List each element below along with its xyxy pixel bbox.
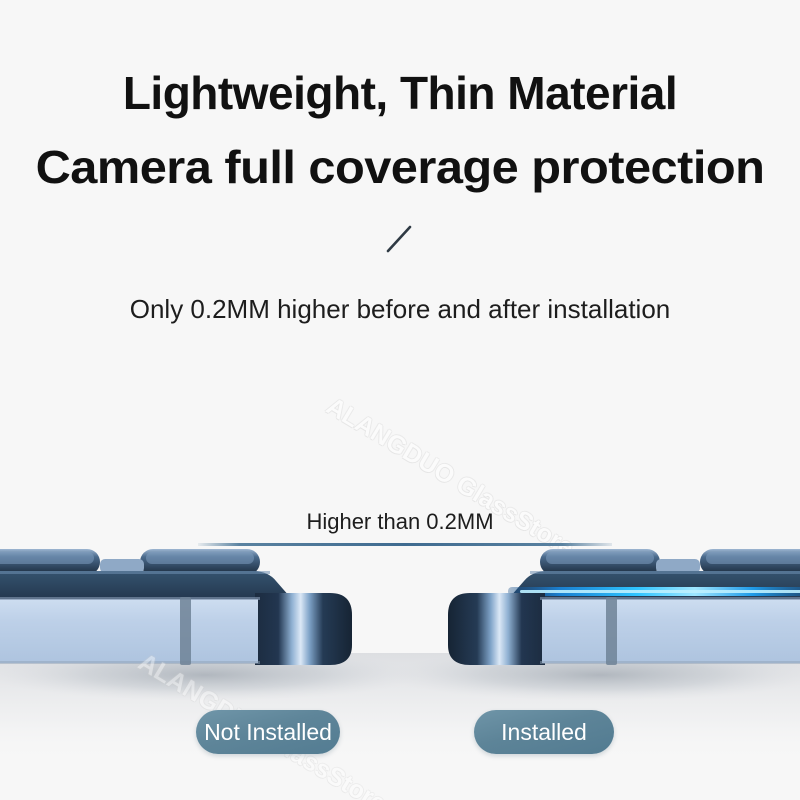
phone-left-antenna-band bbox=[180, 597, 191, 665]
phone-right-antenna-band bbox=[606, 597, 617, 665]
status-badge-not-installed: Not Installed bbox=[196, 710, 340, 754]
measure-callout-label: Higher than 0.2MM bbox=[0, 508, 800, 536]
status-badge-installed: Installed bbox=[474, 710, 614, 754]
headline-line-1: Lightweight, Thin Material bbox=[0, 66, 800, 120]
phone-left-not-installed bbox=[0, 549, 420, 701]
phone-comparison-scene bbox=[0, 535, 800, 800]
phone-right-installed bbox=[385, 549, 800, 701]
phone-right-side-rail bbox=[542, 599, 800, 663]
product-graphic: Lightweight, Thin Material Camera full c… bbox=[0, 0, 800, 800]
phone-right-corner-block bbox=[448, 593, 545, 665]
diagonal-tick-mark bbox=[386, 225, 412, 253]
subtitle: Only 0.2MM higher before and after insta… bbox=[0, 292, 800, 326]
phone-left-side-rail bbox=[0, 599, 258, 663]
phone-left-corner-block bbox=[255, 593, 352, 665]
installed-glass-core bbox=[520, 590, 800, 593]
headline-line-2: Camera full coverage protection bbox=[0, 140, 800, 194]
